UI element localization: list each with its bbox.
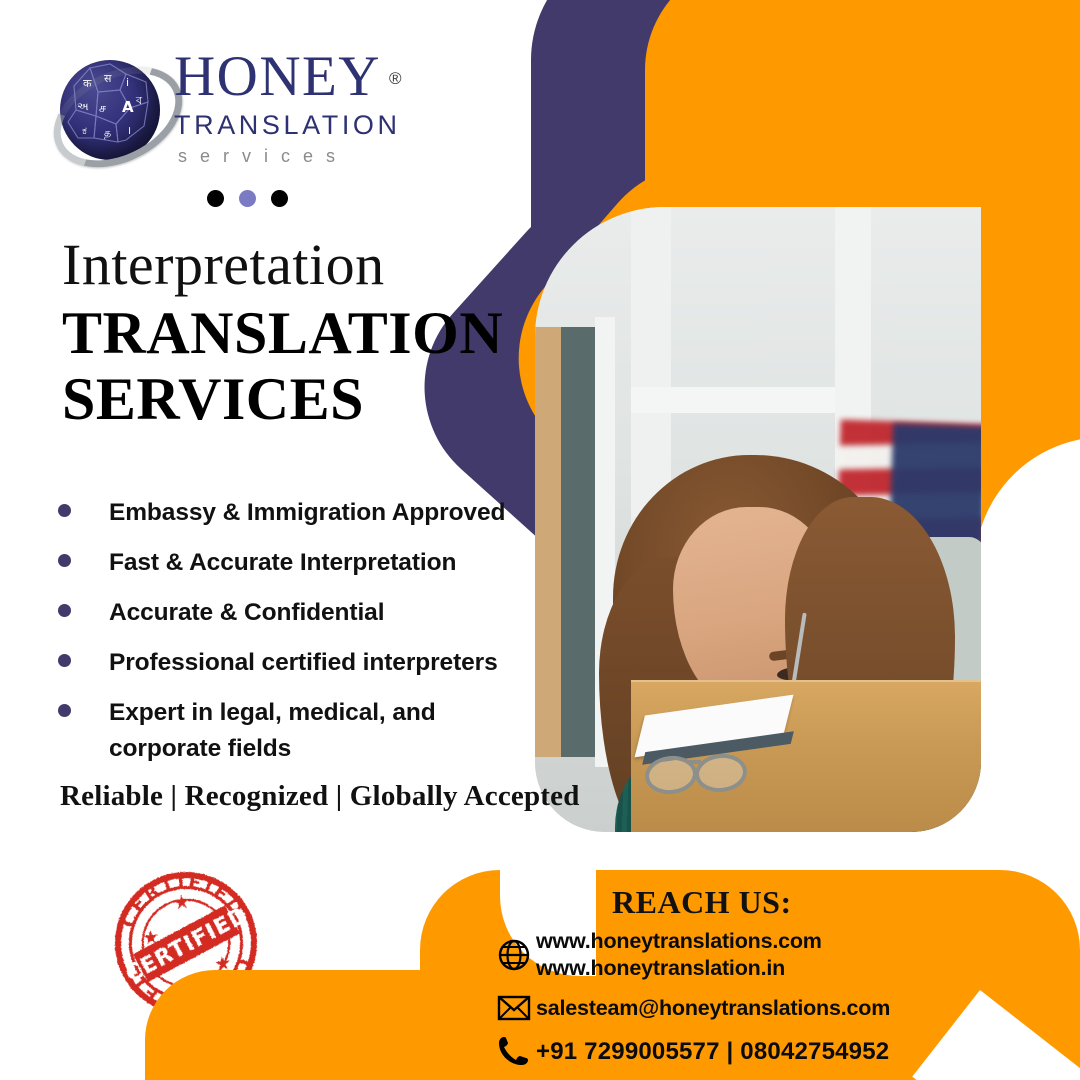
decorative-dots [207, 190, 288, 207]
contact-row-email[interactable]: salesteam@honeytranslations.com [492, 994, 1012, 1022]
bullet-dot-icon [58, 604, 71, 617]
dot-3 [271, 190, 288, 207]
tagline: Reliable | Recognized | Globally Accepte… [60, 780, 580, 813]
headline-line-1: TRANSLATION [62, 300, 532, 366]
list-item-label: Fast & Accurate Interpretation [109, 545, 456, 581]
headline-line-2: SERVICES [62, 366, 532, 432]
bullet-dot-icon [58, 704, 71, 717]
bullet-dot-icon [58, 504, 71, 517]
contact-list: www.honeytranslations.com www.honeytrans… [492, 928, 1012, 1078]
feature-list: Embassy & Immigration Approved Fast & Ac… [58, 495, 538, 781]
headline-script: Interpretation [62, 234, 532, 296]
photo-shelf-detail [535, 327, 561, 757]
list-item: Embassy & Immigration Approved [58, 495, 538, 531]
phone-icon [492, 1034, 536, 1068]
dot-2 [239, 190, 256, 207]
photo-shelf-detail [561, 327, 595, 757]
interpreter-photo [535, 207, 981, 832]
registered-trademark-icon: ® [389, 50, 403, 108]
contact-row-website[interactable]: www.honeytranslations.com www.honeytrans… [492, 928, 1012, 982]
website-line-2[interactable]: www.honeytranslation.in [536, 955, 822, 982]
envelope-icon [492, 994, 536, 1022]
logo-brand-text: HONEY [174, 45, 381, 108]
phone-numbers[interactable]: +91 7299005577 | 08042754952 [536, 1038, 889, 1065]
photo-glasses [645, 754, 755, 788]
list-item: Fast & Accurate Interpretation [58, 545, 538, 581]
email-address[interactable]: salesteam@honeytranslations.com [536, 995, 890, 1022]
globe-icon [492, 938, 536, 972]
contact-website-lines: www.honeytranslations.com www.honeytrans… [536, 928, 822, 982]
list-item-label: Expert in legal, medical, and corporate … [109, 695, 454, 767]
list-item: Accurate & Confidential [58, 595, 538, 631]
list-item: Professional certified interpreters [58, 645, 538, 681]
logo-line-translation: TRANSLATION [174, 108, 474, 142]
list-item-label: Accurate & Confidential [109, 595, 384, 631]
list-item: Expert in legal, medical, and corporate … [58, 695, 538, 767]
bullet-dot-icon [58, 554, 71, 567]
brand-logo: क स i ব અ ச A ಕ த । HONEY [52, 48, 472, 178]
bullet-dot-icon [58, 654, 71, 667]
contact-title: REACH US: [612, 884, 792, 921]
globe-languages-icon: क स i ব અ ச A ಕ த । [52, 54, 170, 172]
logo-line-services: services [174, 144, 474, 168]
headline-main: TRANSLATION SERVICES [62, 300, 532, 432]
website-line-1[interactable]: www.honeytranslations.com [536, 928, 822, 955]
logo-brand-name: HONEY ® [174, 48, 381, 106]
dot-1 [207, 190, 224, 207]
contact-row-phone[interactable]: +91 7299005577 | 08042754952 [492, 1034, 1012, 1068]
list-item-label: Professional certified interpreters [109, 645, 498, 681]
headline-block: Interpretation TRANSLATION SERVICES [62, 234, 532, 432]
poster-canvas: क स i ব અ ச A ಕ த । HONEY [0, 0, 1080, 1080]
list-item-label: Embassy & Immigration Approved [109, 495, 505, 531]
logo-wordmark: HONEY ® TRANSLATION services [174, 48, 474, 168]
